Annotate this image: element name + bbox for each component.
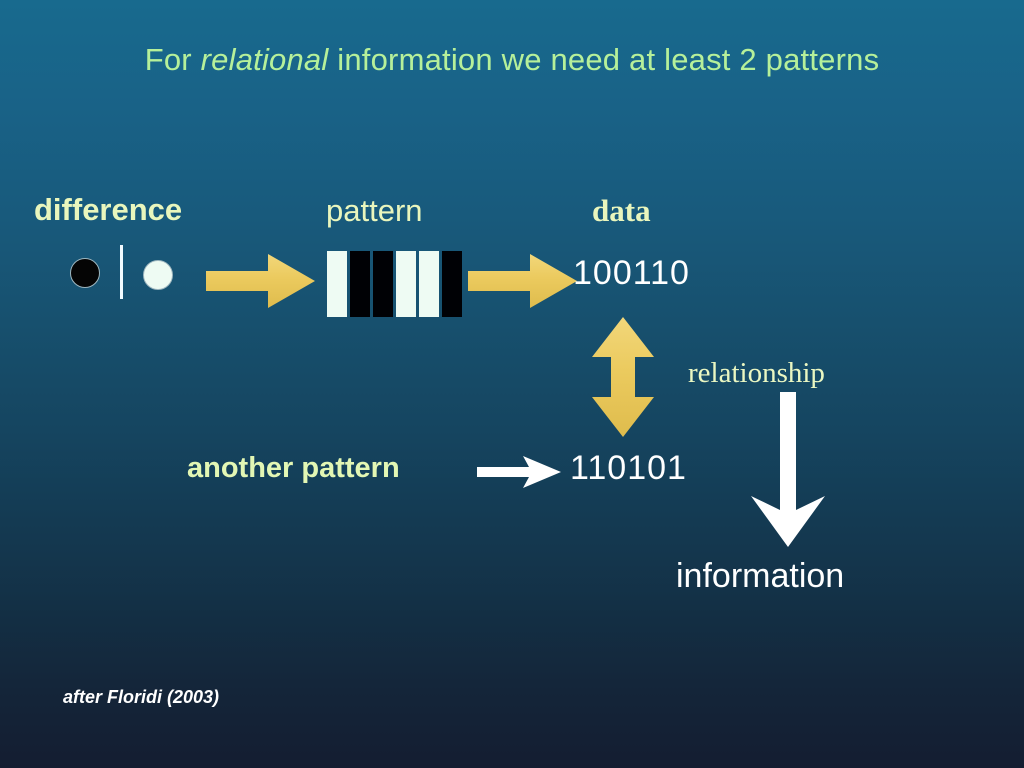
white-dot-icon [143,260,173,290]
relationship-to-information-arrow-icon [751,392,825,547]
another-pattern-to-binary-arrow-icon [477,455,561,489]
black-dot-icon [70,258,100,288]
bar-1 [327,251,347,317]
bar-3 [373,251,393,317]
label-pattern: pattern [326,193,423,229]
data-binary-value: 100110 [573,254,690,293]
bar-2 [350,251,370,317]
barcode-pattern [327,251,462,317]
title-suffix: information we need at least 2 patterns [328,42,879,77]
title-prefix: For [145,42,201,77]
label-relationship: relationship [688,357,825,390]
bar-4 [396,251,416,317]
difference-to-pattern-arrow-icon [206,254,315,308]
bar-6 [442,251,462,317]
source-credit: after Floridi (2003) [63,687,219,708]
label-difference: difference [34,192,182,228]
slide-canvas: For relational information we need at le… [0,0,1024,768]
data-relationship-double-arrow-icon [592,317,654,437]
page-title: For relational information we need at le… [0,42,1024,78]
pattern-to-data-arrow-icon [468,254,577,308]
bar-5 [419,251,439,317]
label-information: information [676,557,844,596]
difference-divider [120,245,123,299]
title-italic-word: relational [201,42,329,77]
label-another-pattern: another pattern [187,452,400,485]
another-pattern-binary-value: 110101 [570,449,687,488]
label-data: data [592,193,651,229]
